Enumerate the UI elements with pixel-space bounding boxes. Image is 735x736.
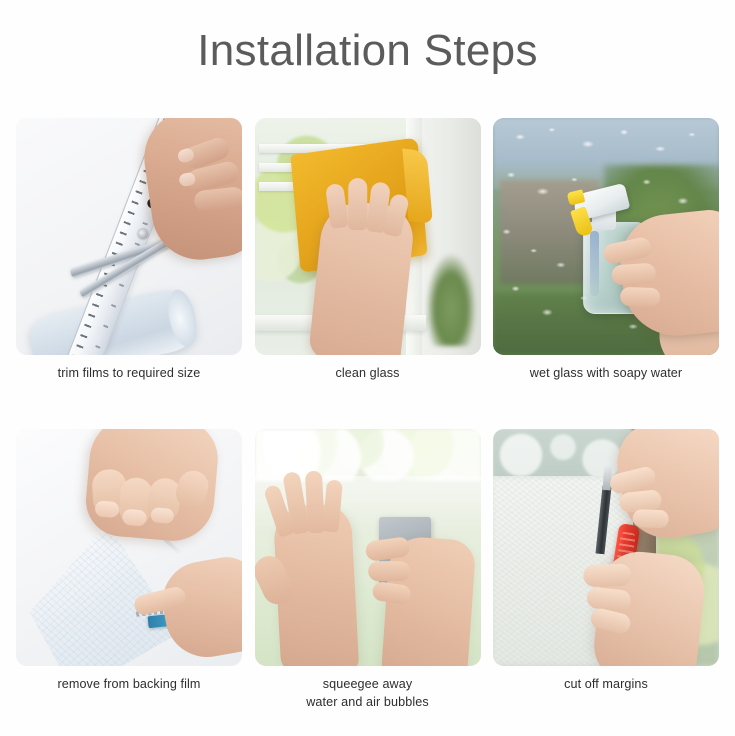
step-2-photo-clean-glass[interactable] <box>255 118 481 355</box>
finger <box>323 479 343 532</box>
step-card-2[interactable]: clean glass <box>255 118 481 383</box>
step-4-caption: remove from backing film <box>16 676 242 694</box>
step-6-photo-cut-margins[interactable] <box>493 429 719 666</box>
fingernail <box>122 509 147 527</box>
step-2-caption: clean glass <box>255 365 481 383</box>
finger <box>632 509 669 528</box>
step-card-1[interactable]: trim films to required size <box>16 118 242 383</box>
finger <box>348 178 367 230</box>
step-card-4[interactable]: remove from backing film <box>16 429 242 712</box>
step-4-photo-remove-backing[interactable] <box>16 429 242 666</box>
right-hand <box>380 535 477 666</box>
step-3-caption: wet glass with soapy water <box>493 365 719 383</box>
step-5-photo-squeegee[interactable] <box>255 429 481 666</box>
step-6-caption: cut off margins <box>493 676 719 694</box>
finger <box>619 287 660 307</box>
steps-grid: trim films to required size <box>16 118 719 712</box>
finger <box>589 606 633 635</box>
steps-row-1: trim films to required size <box>16 118 719 383</box>
left-hand <box>273 503 360 666</box>
step-card-5[interactable]: squeegee away water and air bubbles <box>255 429 481 712</box>
potted-plant <box>426 254 476 346</box>
steps-row-2: remove from backing film <box>16 429 719 712</box>
step-1-photo-trim-films[interactable] <box>16 118 242 355</box>
step-3-photo-wet-glass[interactable] <box>493 118 719 355</box>
page-title: Installation Steps <box>0 0 735 74</box>
installation-steps-infographic: Installation Steps <box>0 0 735 736</box>
hand-upper <box>83 429 221 545</box>
finger <box>369 561 411 581</box>
step-card-3[interactable]: wet glass with soapy water <box>493 118 719 383</box>
step-1-caption: trim films to required size <box>16 365 242 383</box>
step-5-caption: squeegee away water and air bubbles <box>255 676 481 712</box>
fingernail <box>95 500 120 518</box>
upper-glass-pane <box>493 429 633 481</box>
lower-hand <box>590 548 707 666</box>
finger <box>611 262 656 285</box>
fingernail <box>150 507 174 524</box>
step-card-6[interactable]: cut off margins <box>493 429 719 712</box>
finger <box>583 563 632 587</box>
